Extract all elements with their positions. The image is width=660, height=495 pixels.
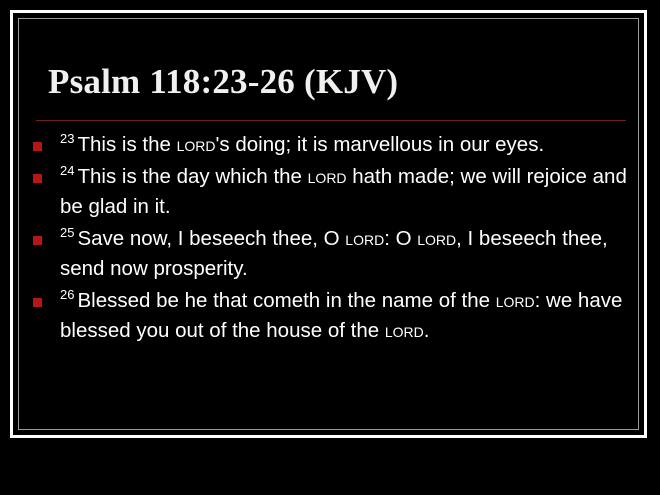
verse-item: 25Save now, I beseech thee, O LORD: O LO… <box>33 224 633 284</box>
bottom-letterbox <box>0 452 660 495</box>
title-divider <box>36 120 626 121</box>
verse-text-run: This is the day which the <box>77 165 307 188</box>
bullet-square-icon <box>33 142 42 151</box>
verse-list: 23This is the LORD's doing; it is marvel… <box>33 130 633 348</box>
verse-text-run: Blessed be he that cometh in the name of… <box>77 289 495 312</box>
verse-text: 25Save now, I beseech thee, O LORD: O LO… <box>60 224 633 284</box>
verse-number: 25 <box>60 225 74 240</box>
verse-item: 26Blessed be he that cometh in the name … <box>33 286 633 346</box>
page-title: Psalm 118:23-26 (KJV) <box>48 62 618 102</box>
slide-title-block: Psalm 118:23-26 (KJV) <box>48 62 618 102</box>
verse-text: 23This is the LORD's doing; it is marvel… <box>60 130 633 160</box>
verse-text: 24This is the day which the LORD hath ma… <box>60 162 633 222</box>
verse-item: 24This is the day which the LORD hath ma… <box>33 162 633 222</box>
verse-text: 26Blessed be he that cometh in the name … <box>60 286 633 346</box>
divine-name-smallcaps: LORD <box>385 319 424 342</box>
bullet-square-icon <box>33 298 42 307</box>
slide-canvas: Psalm 118:23-26 (KJV) 23This is the LORD… <box>0 0 660 452</box>
verse-number: 24 <box>60 163 74 178</box>
verse-text-run: . <box>424 319 430 342</box>
verse-number: 26 <box>60 287 74 302</box>
bullet-square-icon <box>33 174 42 183</box>
bullet-square-icon <box>33 236 42 245</box>
verse-number: 23 <box>60 131 74 146</box>
divine-name-smallcaps: LORD <box>496 289 535 312</box>
verse-text-run: This is the <box>77 133 176 156</box>
divine-name-smallcaps: LORD <box>177 133 216 156</box>
verse-item: 23This is the LORD's doing; it is marvel… <box>33 130 633 160</box>
verse-text-run: : O <box>384 227 417 250</box>
verse-text-run: Save now, I beseech thee, O <box>77 227 345 250</box>
divine-name-smallcaps: LORD <box>345 227 384 250</box>
divine-name-smallcaps: LORD <box>417 227 456 250</box>
verse-text-run: 's doing; it is marvellous in our eyes. <box>216 133 545 156</box>
divine-name-smallcaps: LORD <box>308 165 347 188</box>
